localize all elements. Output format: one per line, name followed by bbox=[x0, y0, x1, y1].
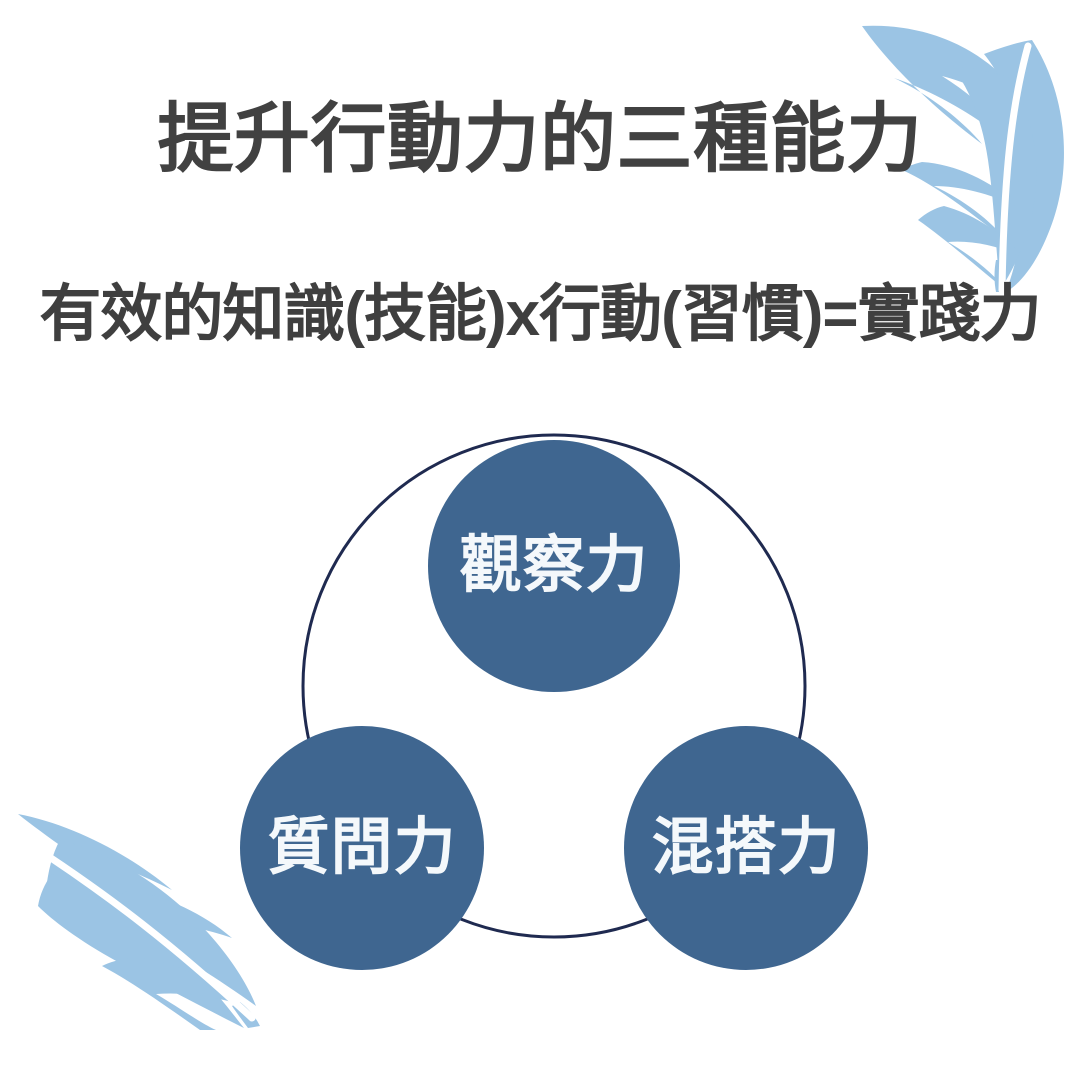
diagram-node-label: 質問力 bbox=[267, 817, 456, 879]
diagram-node-label: 觀察力 bbox=[459, 535, 648, 597]
triad-diagram: 觀察力 質問力 混搭力 bbox=[228, 424, 896, 996]
diagram-node-observation[interactable]: 觀察力 bbox=[428, 440, 680, 692]
page-title: 提升行動力的三種能力 bbox=[0, 100, 1080, 180]
formula-subtitle: 有效的知識(技能)x行動(習慣)=實踐力 bbox=[0, 282, 1080, 347]
diagram-node-remix[interactable]: 混搭力 bbox=[624, 726, 868, 970]
diagram-node-label: 混搭力 bbox=[651, 817, 840, 879]
poster-canvas: 提升行動力的三種能力 有效的知識(技能)x行動(習慣)=實踐力 觀察力 質問力 … bbox=[0, 0, 1080, 1080]
feather-icon bbox=[4, 770, 264, 1030]
diagram-node-questioning[interactable]: 質問力 bbox=[240, 726, 484, 970]
